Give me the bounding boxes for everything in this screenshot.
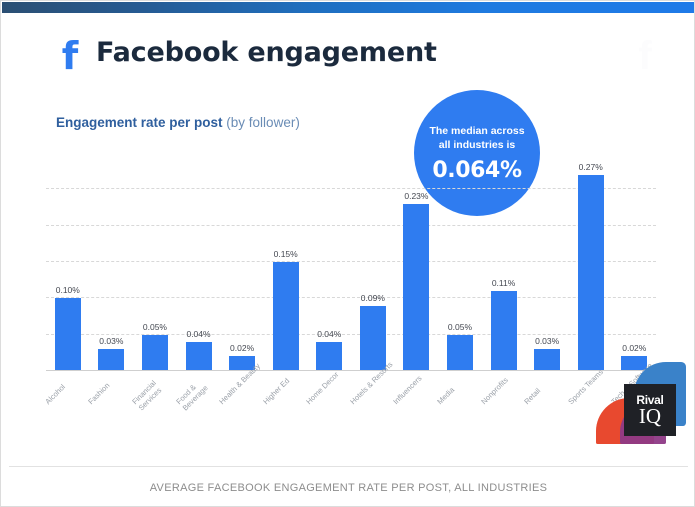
bar-value-label: 0.04% — [186, 329, 210, 339]
bar[interactable] — [578, 175, 604, 371]
bar-slot[interactable]: 0.04% — [307, 153, 351, 371]
bar-slot[interactable]: 0.03% — [525, 153, 569, 371]
x-axis-label-slot: Fashion — [90, 373, 134, 435]
bar-slot[interactable]: 0.05% — [133, 153, 177, 371]
x-axis-label-slot: Home Decor — [307, 373, 351, 435]
bar[interactable] — [491, 291, 517, 371]
footer-caption: AVERAGE FACEBOOK ENGAGEMENT RATE PER POS… — [1, 482, 695, 494]
x-axis-label-slot: Alcohol — [46, 373, 90, 435]
chart-x-axis-labels: AlcoholFashionFinancial ServicesFood & B… — [46, 373, 656, 435]
bar-slot[interactable]: 0.10% — [46, 153, 90, 371]
bar-slot[interactable]: 0.23% — [395, 153, 439, 371]
bar-slot[interactable]: 0.11% — [482, 153, 526, 371]
bar-value-label: 0.10% — [56, 285, 80, 295]
median-callout-text: The median across all industries is — [423, 124, 531, 152]
x-axis-label-slot: Health & Beauty — [220, 373, 264, 435]
bar-value-label: 0.02% — [230, 343, 254, 353]
bar[interactable] — [55, 298, 81, 371]
bar[interactable] — [403, 204, 429, 371]
rival-iq-brand: Rival IQ — [594, 362, 686, 444]
bar-value-label: 0.15% — [274, 249, 298, 259]
bar-value-label: 0.11% — [492, 278, 515, 288]
bar-value-label: 0.05% — [143, 322, 167, 332]
bar-value-label: 0.27% — [579, 162, 603, 172]
page-title: Facebook engagement — [96, 37, 437, 68]
x-axis-label-slot: Media — [438, 373, 482, 435]
chart-subtitle: Engagement rate per post (by follower) — [56, 115, 300, 130]
bar-value-label: 0.02% — [622, 343, 646, 353]
bar-slot[interactable]: 0.27% — [569, 153, 613, 371]
bar-slot[interactable]: 0.05% — [438, 153, 482, 371]
bar-value-label: 0.23% — [404, 191, 428, 201]
bar-slot[interactable]: 0.15% — [264, 153, 308, 371]
bar-slot[interactable]: 0.04% — [177, 153, 221, 371]
bar-value-label: 0.05% — [448, 322, 472, 332]
chart-card: f Facebook engagement f Engagement rate … — [0, 0, 695, 507]
x-axis-label-slot: Retail — [525, 373, 569, 435]
bar-value-label: 0.04% — [317, 329, 341, 339]
footer-divider — [9, 466, 688, 467]
facebook-watermark-icon: f — [620, 31, 670, 81]
bar[interactable] — [360, 306, 386, 371]
bar-slot[interactable]: 0.02% — [220, 153, 264, 371]
chart-subtitle-strong: Engagement rate per post — [56, 115, 223, 130]
bar-slot[interactable]: 0.03% — [90, 153, 134, 371]
rival-iq-logo-line2: IQ — [639, 406, 661, 427]
bar-value-label: 0.09% — [361, 293, 385, 303]
bar-value-label: 0.03% — [535, 336, 559, 346]
bar[interactable] — [273, 262, 299, 371]
x-axis-label-slot: Higher Ed — [264, 373, 308, 435]
bar-value-label: 0.03% — [99, 336, 123, 346]
x-axis-label-slot: Hotels & Resorts — [351, 373, 395, 435]
facebook-f-icon: f — [56, 39, 84, 73]
bar-slot[interactable]: 0.02% — [613, 153, 657, 371]
top-accent-bar — [2, 2, 695, 13]
bar-slot[interactable]: 0.09% — [351, 153, 395, 371]
chart-subtitle-light: (by follower) — [223, 115, 300, 130]
x-axis-label-slot: Influencers — [395, 373, 439, 435]
x-axis-label-slot: Food & Beverage — [177, 373, 221, 435]
rival-iq-logo: Rival IQ — [624, 384, 676, 436]
x-axis-label-slot: Financial Services — [133, 373, 177, 435]
chart-bars: 0.10%0.03%0.05%0.04%0.02%0.15%0.04%0.09%… — [46, 153, 656, 371]
x-axis-label-slot: Nonprofits — [482, 373, 526, 435]
bar-chart: 0.10%0.03%0.05%0.04%0.02%0.15%0.04%0.09%… — [46, 151, 656, 371]
